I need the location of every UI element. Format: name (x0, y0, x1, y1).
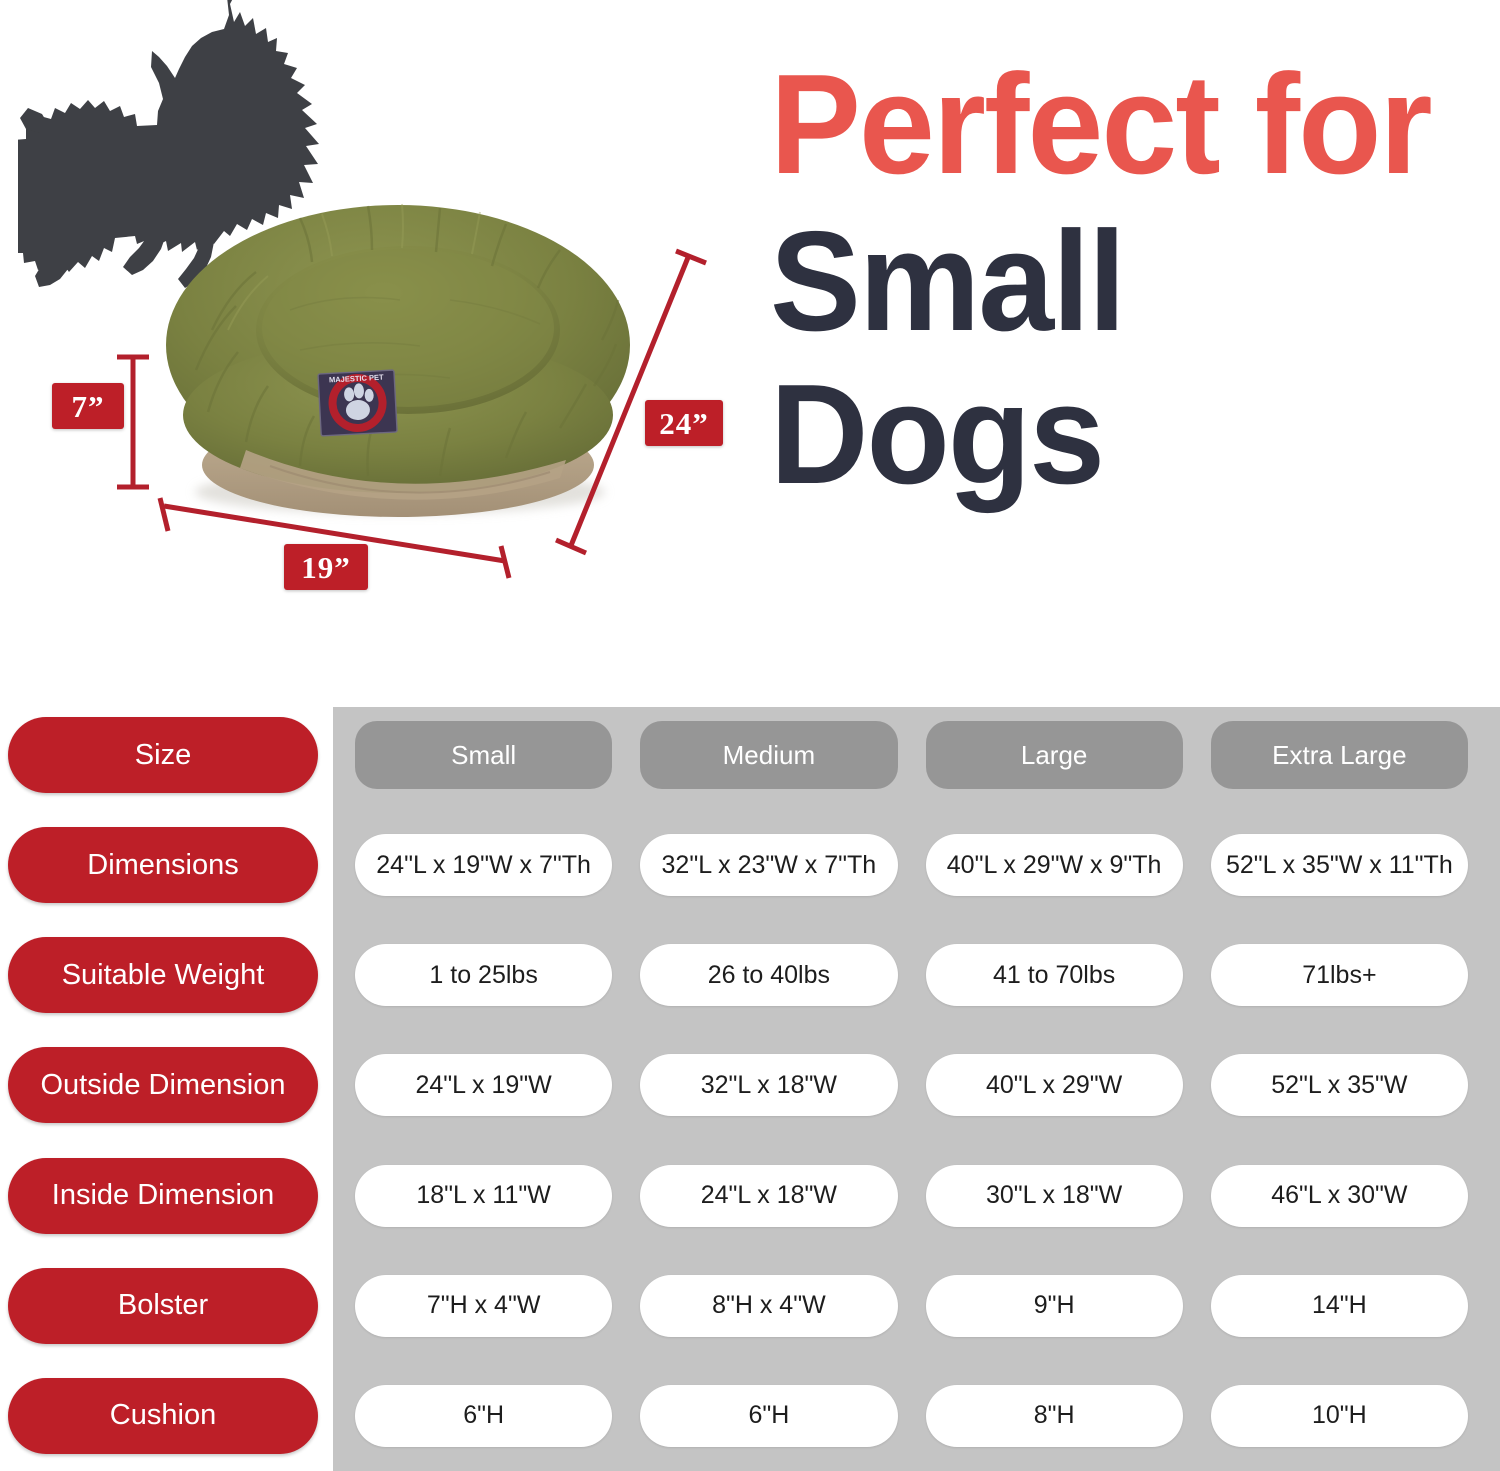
callout-width: 19” (284, 544, 368, 590)
spec-cell: 40"L x 29"W (926, 1054, 1183, 1116)
spec-row: Suitable Weight1 to 25lbs26 to 40lbs41 t… (0, 920, 1500, 1030)
product-photo-dog-bed: MAJESTIC PET (150, 180, 640, 525)
size-header-cell: Medium (640, 721, 897, 789)
row-label-cushion: Cushion (8, 1378, 318, 1454)
headline-line-3: Dogs (770, 365, 1461, 504)
spec-cell: 52"L x 35"W (1211, 1054, 1468, 1116)
spec-cell: 40"L x 29"W x 9"Th (926, 834, 1183, 896)
headline-block: Perfect for Small Dogs (770, 55, 1490, 504)
spec-cell: 8"H x 4"W (640, 1275, 897, 1337)
row-label-bolster: Bolster (8, 1268, 318, 1344)
spec-table-grid: SizeSmallMediumLargeExtra LargeDimension… (0, 700, 1500, 1471)
row-label-dimensions: Dimensions (8, 827, 318, 903)
spec-cell: 10"H (1211, 1385, 1468, 1447)
spec-cell: 24"L x 19"W x 7"Th (355, 834, 612, 896)
spec-row: Cushion6"H6"H8"H10"H (0, 1361, 1500, 1471)
spec-cell: 46"L x 30"W (1211, 1165, 1468, 1227)
row-cells: 1 to 25lbs26 to 40lbs41 to 70lbs71lbs+ (342, 944, 1478, 1006)
row-cells: 24"L x 19"W x 7"Th32"L x 23"W x 7"Th40"L… (342, 834, 1478, 896)
spec-cell: 14"H (1211, 1275, 1468, 1337)
brand-tag: MAJESTIC PET (318, 370, 397, 436)
spec-cell: 8"H (926, 1385, 1183, 1447)
row-label-size: Size (8, 717, 318, 793)
spec-row: SizeSmallMediumLargeExtra Large (0, 700, 1500, 810)
spec-cell: 1 to 25lbs (355, 944, 612, 1006)
spec-cell: 6"H (355, 1385, 612, 1447)
callout-thickness: 7” (52, 383, 124, 429)
spec-cell: 71lbs+ (1211, 944, 1468, 1006)
size-header-cell: Small (355, 721, 612, 789)
spec-cell: 9"H (926, 1275, 1183, 1337)
headline-line-1: Perfect for (770, 55, 1461, 194)
row-cells: 24"L x 19"W32"L x 18"W40"L x 29"W52"L x … (342, 1054, 1478, 1116)
row-label-outside-dimension: Outside Dimension (8, 1047, 318, 1123)
headline-line-2: Small (770, 212, 1461, 351)
spec-row: Inside Dimension18"L x 11"W24"L x 18"W30… (0, 1141, 1500, 1251)
spec-cell: 24"L x 19"W (355, 1054, 612, 1116)
spec-cell: 26 to 40lbs (640, 944, 897, 1006)
row-label-inside-dimension: Inside Dimension (8, 1158, 318, 1234)
spec-cell: 41 to 70lbs (926, 944, 1183, 1006)
hero-section: MAJESTIC PET 7” 19” 24” Perfect for S (0, 0, 1500, 700)
spec-cell: 6"H (640, 1385, 897, 1447)
spec-row: Outside Dimension24"L x 19"W32"L x 18"W4… (0, 1030, 1500, 1140)
spec-row: Bolster7"H x 4"W8"H x 4"W9"H14"H (0, 1251, 1500, 1361)
size-header-cell: Large (926, 721, 1183, 789)
spec-row: Dimensions24"L x 19"W x 7"Th32"L x 23"W … (0, 810, 1500, 920)
spec-cell: 30"L x 18"W (926, 1165, 1183, 1227)
spec-cell: 52"L x 35"W x 11"Th (1211, 834, 1468, 896)
row-cells: 7"H x 4"W8"H x 4"W9"H14"H (342, 1275, 1478, 1337)
row-label-suitable-weight: Suitable Weight (8, 937, 318, 1013)
spec-table: SizeSmallMediumLargeExtra LargeDimension… (0, 700, 1500, 1471)
spec-cell: 32"L x 18"W (640, 1054, 897, 1116)
row-cells: 18"L x 11"W24"L x 18"W30"L x 18"W46"L x … (342, 1165, 1478, 1227)
size-header-cell: Extra Large (1211, 721, 1468, 789)
spec-cell: 32"L x 23"W x 7"Th (640, 834, 897, 896)
spec-cell: 24"L x 18"W (640, 1165, 897, 1227)
callout-length: 24” (645, 400, 723, 446)
spec-cell: 7"H x 4"W (355, 1275, 612, 1337)
row-cells: SmallMediumLargeExtra Large (342, 721, 1478, 789)
spec-cell: 18"L x 11"W (355, 1165, 612, 1227)
row-cells: 6"H6"H8"H10"H (342, 1385, 1478, 1447)
